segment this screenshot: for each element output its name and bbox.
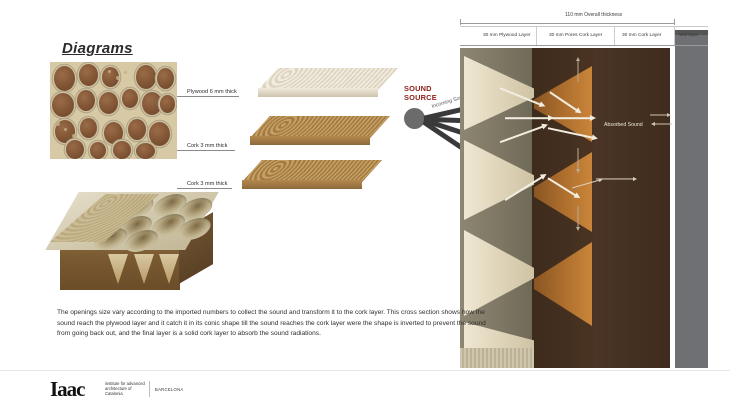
sound-source-label: SOUND SOURCE	[404, 84, 437, 102]
section-base-strip	[460, 348, 534, 368]
label-plywood-thickness: Plywood 6 mm thick	[187, 89, 237, 95]
footer-divider	[0, 370, 730, 371]
iaac-city-label: BARCELONA	[155, 387, 184, 392]
header-separator-1	[536, 27, 537, 45]
leader-line-cork-1	[177, 150, 235, 151]
iaac-tagline: institute for advanced architecture of C…	[105, 381, 145, 396]
sound-source-dot-icon	[404, 108, 425, 129]
section-column-cork	[594, 48, 670, 368]
cork-microstructure-image	[50, 62, 177, 159]
exploded-layer-diagram	[250, 68, 390, 203]
sound-source-line-2: SOURCE	[404, 93, 437, 102]
header-label-wall-layer: Wal layer	[679, 33, 699, 38]
slab-cork-2	[252, 160, 372, 194]
leader-line-plywood	[177, 96, 239, 97]
header-separator-3	[674, 27, 675, 45]
wall-layer-block	[675, 30, 708, 368]
header-rule-bottom	[460, 45, 708, 46]
header-label-pores-cork-layer: 30 mm Pores Cork Layer	[549, 33, 602, 38]
overall-thickness-label: 110 mm Overall thickness	[565, 12, 622, 18]
label-cork-2-thickness: Cork 3 mm thick	[187, 181, 227, 187]
perforated-panel-3d-model	[48, 192, 216, 295]
page-title: Diagrams	[62, 40, 133, 57]
label-cork-1-thickness: Cork 3 mm thick	[187, 143, 227, 149]
absorbed-sound-label: Absorbed Sound	[604, 122, 643, 128]
description-paragraph: The openings size vary according to the …	[57, 308, 487, 340]
slab-cork-1	[260, 116, 380, 150]
leader-line-cork-2	[177, 188, 232, 189]
sound-source-line-1: SOUND	[404, 84, 437, 93]
overall-dimension-line	[460, 23, 675, 24]
header-separator-2	[614, 27, 615, 45]
footer-logo-divider	[149, 381, 150, 397]
wall-section-diagram	[460, 48, 675, 368]
dimension-tick-right	[674, 19, 675, 25]
dimension-tick-left	[460, 19, 461, 25]
header-label-plywood-layer: 30 mm Plywood Layer	[483, 33, 530, 38]
iaac-logo: Iaac	[50, 379, 85, 400]
slab-plywood	[268, 68, 388, 102]
header-label-cork-layer: 30 mm Cork Layer	[622, 33, 661, 38]
header-rule-top	[460, 26, 708, 27]
